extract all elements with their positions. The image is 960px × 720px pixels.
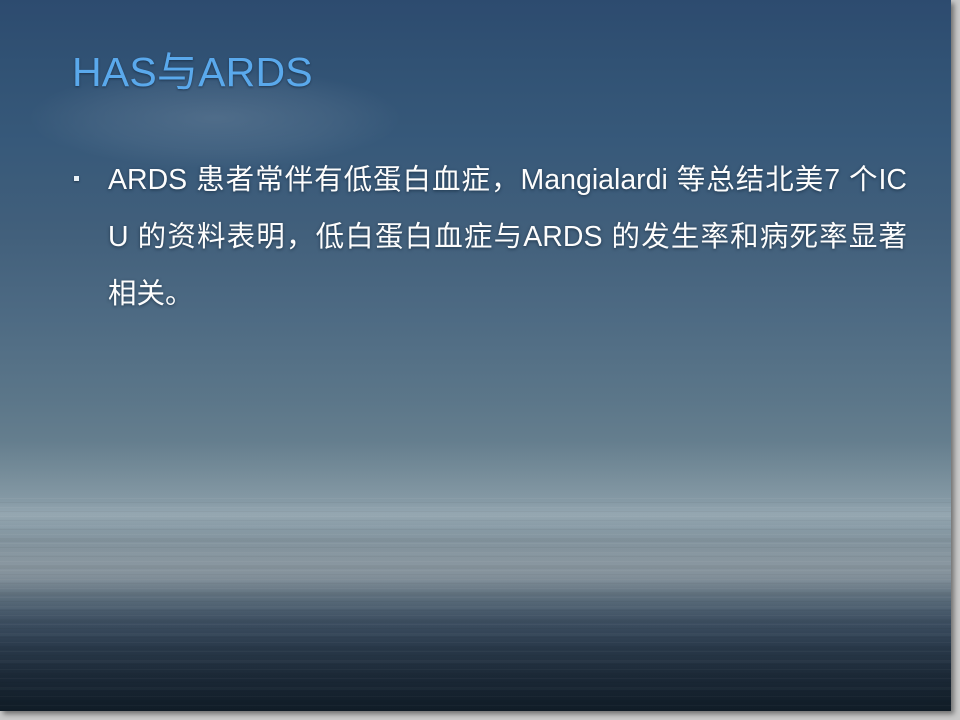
- square-bullet-icon: [62, 152, 108, 183]
- title-placeholder[interactable]: HAS与ARDS: [72, 48, 892, 96]
- bullet-text: ARDS 患者常伴有低蛋白血症，Mangialardi 等总结北美7 个ICU …: [108, 152, 907, 323]
- slide-canvas: HAS与ARDS ARDS 患者常伴有低蛋白血症，Mangialardi 等总结…: [0, 0, 951, 711]
- list-item: ARDS 患者常伴有低蛋白血症，Mangialardi 等总结北美7 个ICU …: [62, 152, 907, 323]
- slide-content: HAS与ARDS ARDS 患者常伴有低蛋白血症，Mangialardi 等总结…: [0, 0, 951, 711]
- slide-frame: HAS与ARDS ARDS 患者常伴有低蛋白血症，Mangialardi 等总结…: [0, 0, 960, 720]
- page-title: HAS与ARDS: [72, 48, 892, 96]
- body-placeholder[interactable]: ARDS 患者常伴有低蛋白血症，Mangialardi 等总结北美7 个ICU …: [62, 152, 907, 323]
